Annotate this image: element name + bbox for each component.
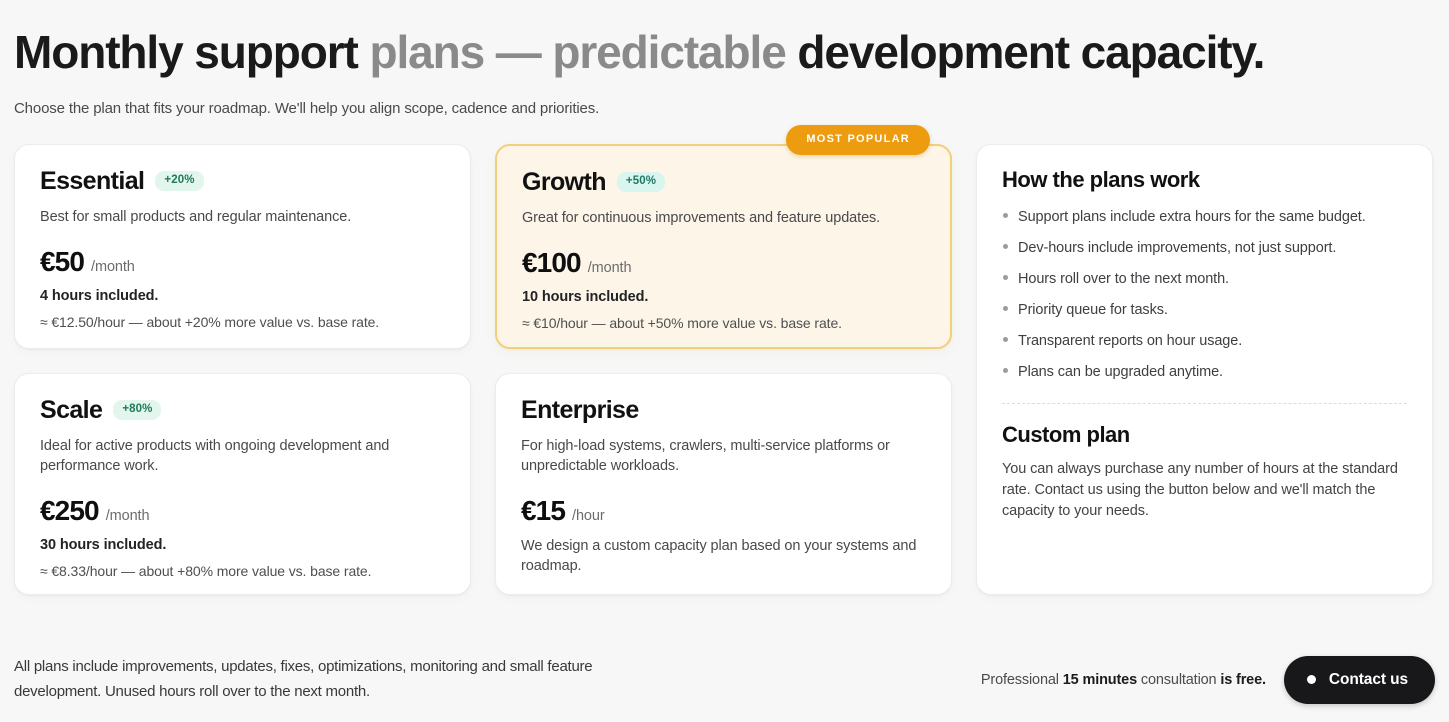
plan-hours: 4 hours included. [40,288,445,304]
plan-description: Great for continuous improvements and fe… [522,208,925,228]
plan-name: Enterprise [521,398,639,423]
consultation-duration: 15 minutes [1063,672,1137,688]
plan-card-essential[interactable]: Essential +20% Best for small products a… [14,144,471,349]
plan-price: €250 [40,497,99,525]
list-item: Dev-hours include improvements, not just… [1002,239,1407,257]
plan-hours: 10 hours included. [522,289,925,305]
footer-note: All plans include improvements, updates,… [14,655,674,704]
plan-header: Essential +20% [40,169,445,194]
list-item: Transparent reports on hour usage. [1002,332,1407,350]
plan-hours: 30 hours included. [40,537,445,553]
contact-us-button[interactable]: Contact us [1284,656,1435,704]
plan-price-row: €15 /hour [521,497,926,525]
plan-value-badge: +80% [113,400,161,421]
plan-header: Growth +50% [522,170,925,195]
plan-header: Scale +80% [40,398,445,423]
plan-rate: ≈ €12.50/hour — about +20% more value vs… [40,314,445,330]
page-title-part-2: plans — predictable [369,26,797,78]
plan-card-enterprise[interactable]: Enterprise For high-load systems, crawle… [495,373,952,595]
footer-cta-group: Professional 15 minutes consultation is … [981,656,1435,704]
section-divider [1002,403,1407,404]
list-item: Support plans include extra hours for th… [1002,208,1407,226]
page-title-part-3: development capacity. [797,26,1264,78]
how-plans-work-panel: How the plans work Support plans include… [976,144,1433,595]
plan-note: We design a custom capacity plan based o… [521,536,926,576]
plan-price: €15 [521,497,565,525]
plan-name: Growth [522,170,606,195]
plan-description: Best for small products and regular main… [40,207,445,227]
page-title-part-1: Monthly support [14,26,369,78]
consultation-pre: Professional [981,672,1063,688]
plan-card-growth[interactable]: MOST POPULAR Growth +50% Great for conti… [495,144,952,349]
plan-price-row: €50 /month [40,248,445,276]
list-item: Plans can be upgraded anytime. [1002,363,1407,381]
contact-us-label: Contact us [1329,671,1408,689]
plan-name: Essential [40,169,144,194]
plan-price: €50 [40,248,84,276]
plan-header: Enterprise [521,398,926,423]
plan-description: Ideal for active products with ongoing d… [40,436,445,476]
pricing-page: Monthly support plans — predictable deve… [0,0,1449,722]
plan-value-badge: +50% [617,172,665,193]
page-subtitle: Choose the plan that fits your roadmap. … [14,100,1435,117]
plan-value-badge: +20% [155,171,203,192]
dot-icon [1307,675,1316,684]
aside-bullet-list: Support plans include extra hours for th… [1002,208,1407,382]
plan-price-row: €100 /month [522,249,925,277]
consultation-free: is free. [1220,672,1266,688]
plan-price-unit: /month [91,259,135,275]
plan-card-scale[interactable]: Scale +80% Ideal for active products wit… [14,373,471,595]
plan-description: For high-load systems, crawlers, multi-s… [521,436,926,476]
plan-price-row: €250 /month [40,497,445,525]
plan-name: Scale [40,398,102,423]
plan-price: €100 [522,249,581,277]
consultation-note: Professional 15 minutes consultation is … [981,672,1266,688]
plan-rate: ≈ €10/hour — about +50% more value vs. b… [522,315,925,331]
aside-title: How the plans work [1002,169,1407,191]
most-popular-badge: MOST POPULAR [786,125,930,155]
plan-price-unit: /month [106,508,150,524]
custom-plan-body: You can always purchase any number of ho… [1002,459,1407,522]
plan-price-unit: /month [588,260,632,276]
plan-rate: ≈ €8.33/hour — about +80% more value vs.… [40,563,445,579]
page-footer: All plans include improvements, updates,… [14,655,1435,704]
consultation-mid: consultation [1137,672,1220,688]
page-title: Monthly support plans — predictable deve… [14,28,1435,78]
list-item: Priority queue for tasks. [1002,301,1407,319]
plan-price-unit: /hour [572,508,605,524]
custom-plan-title: Custom plan [1002,424,1407,446]
plans-grid: Essential +20% Best for small products a… [14,144,1435,595]
list-item: Hours roll over to the next month. [1002,270,1407,288]
